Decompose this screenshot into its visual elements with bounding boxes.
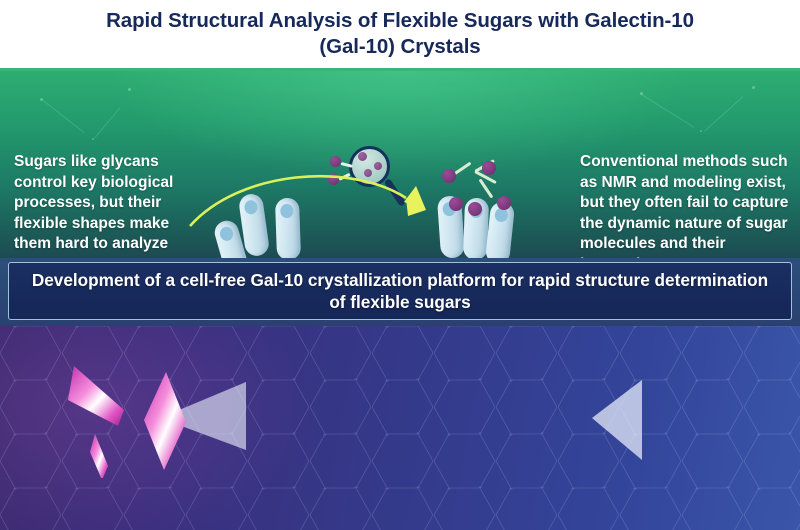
bg-network-line [94, 107, 120, 138]
curved-arrow-icon [180, 136, 580, 258]
bg-network-line [639, 93, 694, 128]
bg-speck [128, 88, 131, 91]
structure-light-cone [576, 356, 646, 476]
green-top-rule [0, 68, 800, 71]
problem-section: Sugars like glycans control key biologic… [0, 68, 800, 258]
workflow-section: Sugar soaking [0, 326, 800, 530]
solution-banner: Development of a cell-free Gal-10 crysta… [8, 262, 792, 320]
crystal-icon [144, 372, 186, 470]
crystal-icon-group [40, 348, 210, 478]
title-line-1: Rapid Structural Analysis of Flexible Su… [106, 9, 694, 32]
solution-banner-text: Development of a cell-free Gal-10 crysta… [30, 269, 770, 314]
title-line-2: (Gal-10) Crystals [319, 35, 480, 58]
page-title: Rapid Structural Analysis of Flexible Su… [50, 8, 750, 60]
title-zone: Rapid Structural Analysis of Flexible Su… [0, 0, 800, 68]
crystal-icon [90, 434, 108, 478]
bg-network-line [41, 99, 84, 133]
bg-network-line [704, 96, 743, 132]
problem-text-left: Sugars like glycans control key biologic… [14, 152, 190, 255]
graphical-abstract: Rapid Structural Analysis of Flexible Su… [0, 0, 800, 530]
problem-text-right: Conventional methods such as NMR and mod… [580, 152, 794, 258]
bg-speck [700, 130, 702, 132]
crystal-icon [68, 366, 124, 426]
bg-speck [752, 86, 755, 89]
